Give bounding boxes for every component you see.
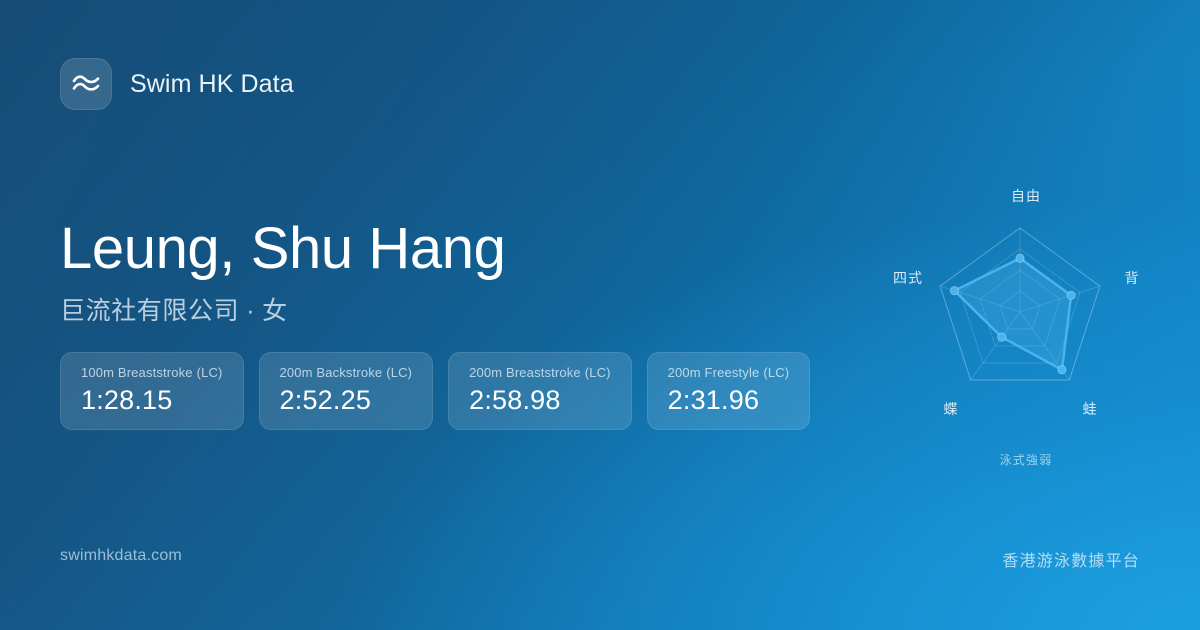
footer-tagline: 香港游泳數據平台 bbox=[1002, 547, 1140, 571]
radar-axis-label-1: 背 bbox=[1125, 268, 1140, 288]
stat-event-name: 200m Breaststroke bbox=[469, 365, 581, 380]
stat-card-time: 2:58.98 bbox=[469, 385, 611, 416]
radar-axis-label-2: 蛙 bbox=[1083, 399, 1098, 419]
athlete-gender: 女 bbox=[262, 297, 288, 325]
radar-chart-caption: 泳式強弱 bbox=[1000, 451, 1053, 468]
stat-event-name: 200m Freestyle bbox=[668, 365, 760, 380]
stat-card-list: 100m Breaststroke(LC) 1:28.15 200m Backs… bbox=[60, 352, 810, 430]
stat-course-code: (LC) bbox=[581, 365, 611, 380]
footer-site-url[interactable]: swimhkdata.com bbox=[60, 547, 182, 565]
stat-card-time: 1:28.15 bbox=[81, 385, 223, 416]
stat-card-label: 100m Breaststroke(LC) bbox=[81, 365, 223, 380]
stat-card[interactable]: 100m Breaststroke(LC) 1:28.15 bbox=[60, 352, 244, 430]
stat-card-time: 2:52.25 bbox=[280, 385, 413, 416]
radar-axis-label-0: 自由 bbox=[1011, 186, 1041, 206]
radar-axis-label-4: 四式 bbox=[893, 268, 923, 288]
stat-card-label: 200m Backstroke(LC) bbox=[280, 365, 413, 380]
page-title: Leung, Shu Hang bbox=[60, 218, 505, 279]
stat-course-code: (LC) bbox=[382, 365, 412, 380]
stat-card-label: 200m Freestyle(LC) bbox=[668, 365, 790, 380]
brand-name: Swim HK Data bbox=[130, 70, 294, 99]
stat-event-name: 100m Breaststroke bbox=[81, 365, 193, 380]
hero: Leung, Shu Hang 巨流社有限公司·女 bbox=[60, 218, 505, 327]
athlete-meta: 巨流社有限公司·女 bbox=[60, 291, 505, 327]
wave-icon bbox=[60, 58, 112, 110]
stat-event-name: 200m Backstroke bbox=[280, 365, 383, 380]
stat-card[interactable]: 200m Backstroke(LC) 2:52.25 bbox=[259, 352, 434, 430]
meta-separator: · bbox=[239, 297, 262, 325]
radar-chart: 自由背蛙蝶四式 泳式強弱 bbox=[876, 170, 1176, 470]
athlete-club: 巨流社有限公司 bbox=[60, 297, 239, 325]
stat-course-code: (LC) bbox=[759, 365, 789, 380]
radar-axis-label-3: 蝶 bbox=[944, 399, 959, 419]
stat-course-code: (LC) bbox=[193, 365, 223, 380]
stat-card[interactable]: 200m Freestyle(LC) 2:31.96 bbox=[647, 352, 811, 430]
brand[interactable]: Swim HK Data bbox=[60, 58, 294, 110]
stat-card-label: 200m Breaststroke(LC) bbox=[469, 365, 611, 380]
og-card: Swim HK Data Leung, Shu Hang 巨流社有限公司·女 1… bbox=[0, 0, 1200, 630]
stat-card[interactable]: 200m Breaststroke(LC) 2:58.98 bbox=[448, 352, 632, 430]
stat-card-time: 2:31.96 bbox=[668, 385, 790, 416]
radar-chart-svg bbox=[876, 170, 1176, 470]
